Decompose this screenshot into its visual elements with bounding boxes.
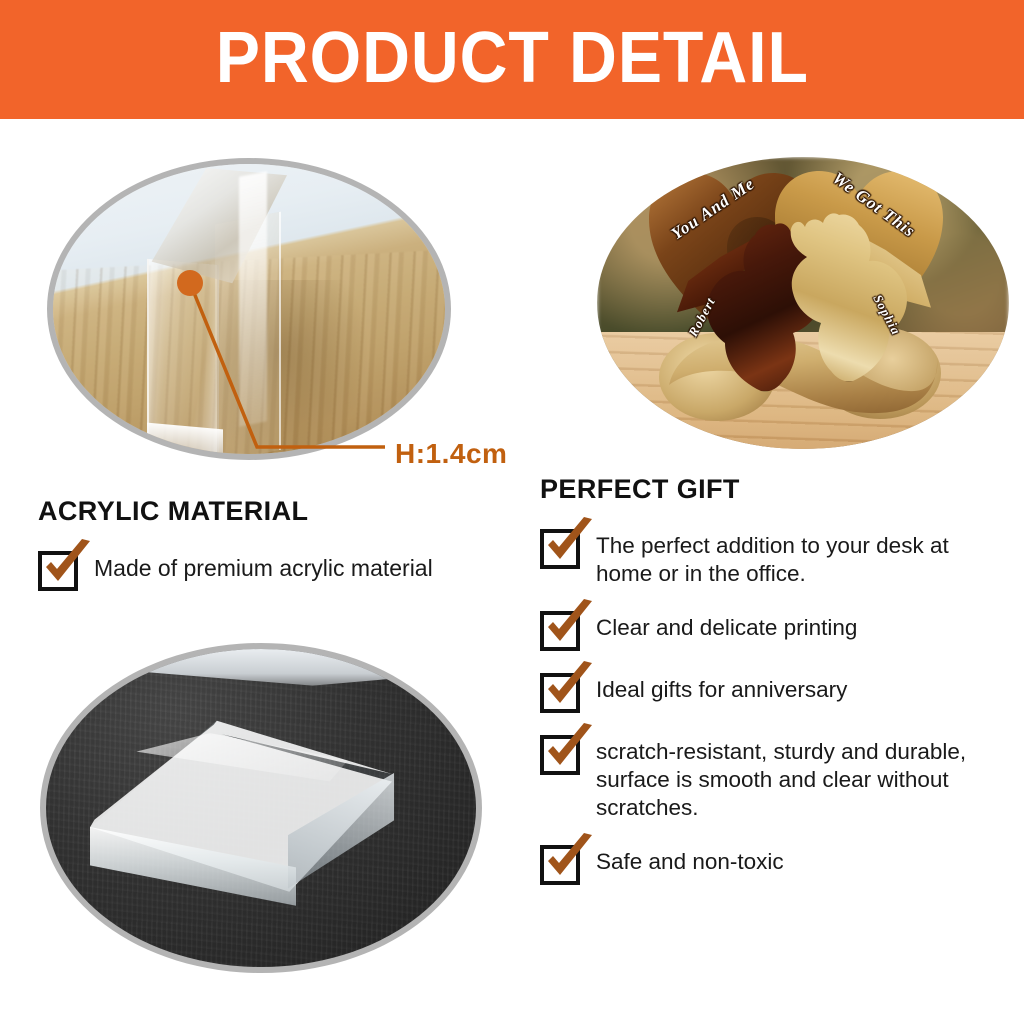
- section-perfect-gift: PERFECT GIFT The perfect addition to you…: [540, 474, 1010, 905]
- check-icon: [540, 599, 596, 655]
- feature-item: Made of premium acrylic material: [38, 549, 518, 591]
- checkbox[interactable]: [540, 845, 580, 885]
- feature-item: Clear and delicate printing: [540, 609, 1010, 651]
- acrylic-block: [90, 717, 392, 939]
- feature-item: Safe and non-toxic: [540, 843, 1010, 885]
- check-icon: [540, 833, 596, 889]
- checkbox[interactable]: [540, 529, 580, 569]
- check-icon: [540, 723, 596, 779]
- check-icon: [38, 539, 94, 595]
- checkbox[interactable]: [540, 673, 580, 713]
- feature-text: Safe and non-toxic: [596, 843, 784, 876]
- feature-item: scratch-resistant, sturdy and durable, s…: [540, 733, 1010, 823]
- slab-glare-highlight: [239, 171, 267, 426]
- checkbox[interactable]: [540, 735, 580, 775]
- checkbox[interactable]: [540, 611, 580, 651]
- acrylic-block-photo: [40, 643, 482, 973]
- section-title-acrylic-material: ACRYLIC MATERIAL: [38, 496, 518, 527]
- header-banner: PRODUCT DETAIL: [0, 0, 1024, 119]
- acrylic-edge-photo: [47, 158, 451, 460]
- feature-item: Ideal gifts for anniversary: [540, 671, 1010, 713]
- check-icon: [540, 661, 596, 717]
- feature-text: scratch-resistant, sturdy and durable, s…: [596, 733, 1010, 823]
- checkbox[interactable]: [38, 551, 78, 591]
- feature-text: Ideal gifts for anniversary: [596, 671, 847, 704]
- feature-text: Made of premium acrylic material: [94, 549, 433, 583]
- acrylic-edge-scene: [53, 164, 445, 454]
- dragon-plaque-photo: You And Me We Got This Robert Sophia: [597, 157, 1009, 449]
- feature-text: The perfect addition to your desk at hom…: [596, 527, 1010, 589]
- section-title-perfect-gift: PERFECT GIFT: [540, 474, 1010, 505]
- feature-text: Clear and delicate printing: [596, 609, 857, 642]
- section-acrylic-material: ACRYLIC MATERIAL Made of premium acrylic…: [38, 496, 518, 613]
- feature-item: The perfect addition to your desk at hom…: [540, 527, 1010, 589]
- page-title: PRODUCT DETAIL: [215, 22, 808, 98]
- height-measurement-label: H:1.4cm: [395, 438, 507, 470]
- acrylic-slab: [139, 158, 287, 458]
- check-icon: [540, 517, 596, 573]
